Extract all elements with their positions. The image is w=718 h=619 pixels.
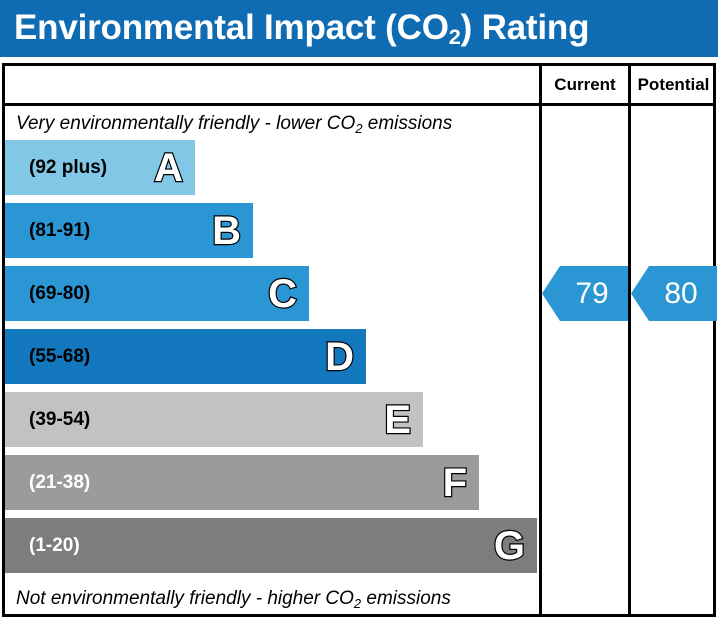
column-divider-potential	[628, 63, 631, 617]
chart-title-bar: Environmental Impact (CO2) Rating	[0, 0, 718, 57]
rating-band-letter-f: F	[443, 455, 467, 510]
rating-band-row-f: (21-38) F	[5, 455, 479, 510]
rating-band-row-d: (55-68) D	[5, 329, 366, 384]
rating-band-letter-c: C	[268, 266, 297, 321]
caption-bottom-prefix: Not environmentally friendly - higher CO	[16, 588, 354, 609]
caption-bottom: Not environmentally friendly - higher CO…	[16, 585, 526, 613]
caption-top-subscript: 2	[355, 121, 362, 136]
page-title-prefix: Environmental Impact (CO	[14, 8, 449, 47]
rating-band-row-b: (81-91) B	[5, 203, 253, 258]
rating-bands-container: (92 plus) A (81-91) B (69-80) C (55-68) …	[5, 140, 539, 582]
caption-bottom-subscript: 2	[354, 596, 361, 611]
rating-band-row-a: (92 plus) A	[5, 140, 195, 195]
caption-top: Very environmentally friendly - lower CO…	[16, 110, 526, 138]
rating-band-letter-b: B	[212, 203, 241, 258]
current-rating-marker: 79	[542, 266, 628, 321]
page-title-subscript: 2	[449, 24, 461, 49]
rating-band-letter-e: E	[384, 392, 411, 447]
rating-band-range-g: (1-20)	[29, 518, 80, 573]
column-header-potential: Potential	[631, 69, 716, 101]
rating-band-row-e: (39-54) E	[5, 392, 423, 447]
rating-band-row-g: (1-20) G	[5, 518, 537, 573]
caption-top-suffix: emissions	[363, 113, 453, 134]
rating-band-range-e: (39-54)	[29, 392, 90, 447]
rating-band-row-c: (69-80) C	[5, 266, 309, 321]
epc-environmental-impact-chart: Environmental Impact (CO2) Rating Curren…	[0, 0, 718, 619]
column-header-current: Current	[542, 69, 628, 101]
rating-band-range-a: (92 plus)	[29, 140, 107, 195]
rating-band-letter-g: G	[494, 518, 525, 573]
column-divider-current	[539, 63, 542, 617]
page-title: Environmental Impact (CO2) Rating	[14, 4, 589, 56]
potential-rating-marker: 80	[631, 266, 717, 321]
rating-band-range-d: (55-68)	[29, 329, 90, 384]
header-row-divider	[2, 103, 716, 106]
caption-bottom-suffix: emissions	[361, 588, 451, 609]
rating-band-bar-g	[5, 518, 537, 573]
rating-band-letter-a: A	[154, 140, 183, 195]
page-title-suffix: ) Rating	[461, 8, 590, 47]
rating-band-letter-d: D	[325, 329, 354, 384]
rating-band-range-c: (69-80)	[29, 266, 90, 321]
rating-band-range-b: (81-91)	[29, 203, 90, 258]
caption-top-prefix: Very environmentally friendly - lower CO	[16, 113, 355, 134]
rating-band-range-f: (21-38)	[29, 455, 90, 510]
